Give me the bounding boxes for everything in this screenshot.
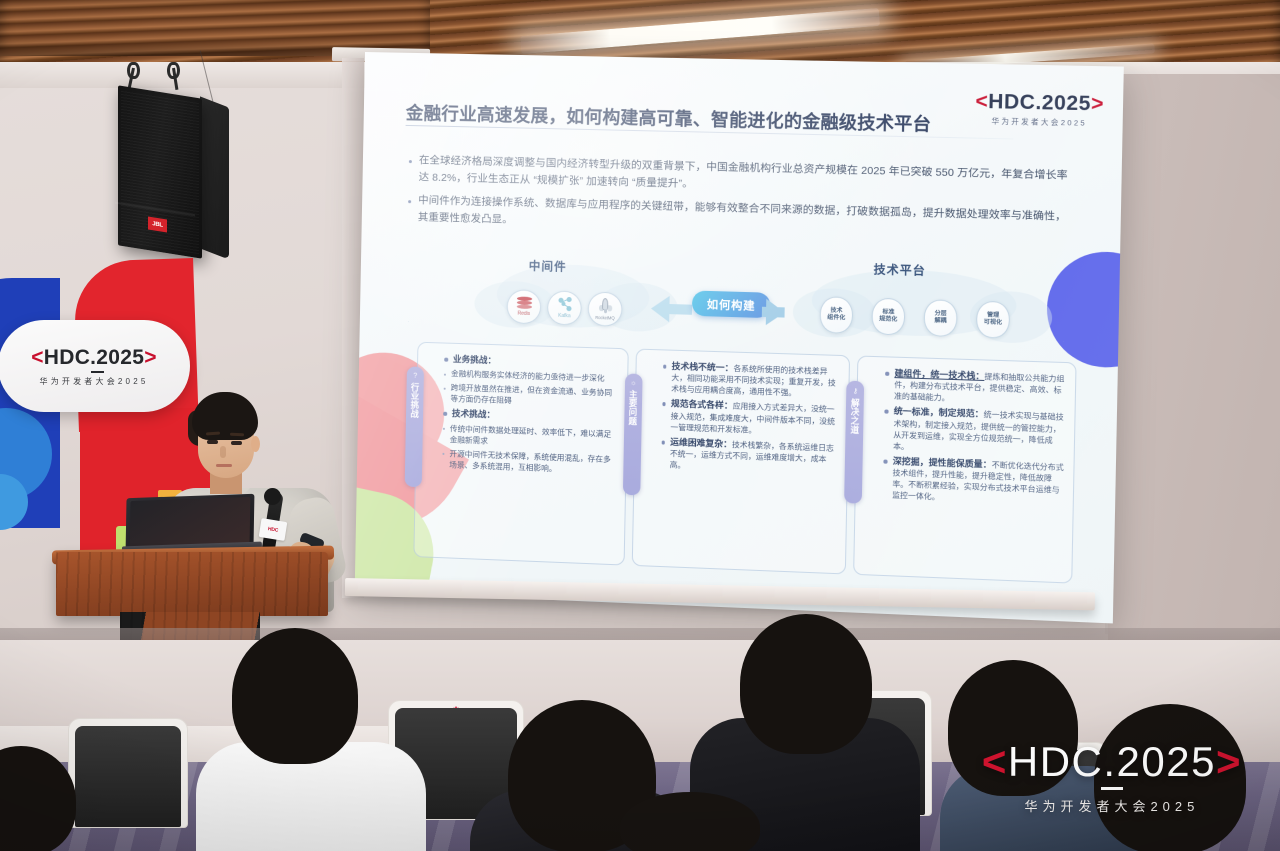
rocketmq-icon xyxy=(598,298,612,315)
presenter-ear xyxy=(251,436,260,452)
bullet-dot-icon xyxy=(443,412,447,416)
platform-capability-chip: 管理 可视化 xyxy=(976,301,1010,339)
middleware-label: 中间件 xyxy=(529,258,567,275)
platform-capability-chip: 分层 解耦 xyxy=(923,299,957,337)
panel-tag-label: 解决之道 xyxy=(849,398,860,435)
bullet-dot-icon xyxy=(408,200,411,203)
bullet-dot-icon xyxy=(443,428,445,430)
bullet-dot-icon xyxy=(444,358,448,362)
panel-item-head: 深挖掘，提性能保质量： xyxy=(893,456,992,470)
panel-item-head: 技术挑战： xyxy=(452,408,495,420)
panel-list-item: 深挖掘，提性能保质量：不断优化迭代分布式技术组件，提升性能，提升稳定性，降低故障… xyxy=(883,454,1065,507)
projection-screen: 金融行业高速发展，如何构建高可靠、智能进化的金融级技术平台 <HDC.2025>… xyxy=(355,52,1124,623)
hdc-corner-logo-main: <HDC.2025> xyxy=(982,741,1242,783)
panel-item-text: 业务挑战： xyxy=(453,353,497,367)
panel-solutions: ⚷ 解决之道 建组件，统一技术栈：提炼和抽取公共能力组件，构建分布式技术平台，提… xyxy=(853,355,1076,583)
panel-item-head: 规范各式各样： xyxy=(671,399,733,411)
audience-chair xyxy=(68,718,188,828)
speaker-front-face xyxy=(118,85,202,258)
redis-icon xyxy=(516,296,531,310)
panel-list-item: 技术栈不统一：各系统所使用的技术栈差异大，相同功能采用不同技术实现；重复开发，技… xyxy=(662,360,841,401)
panel-item-text: 技术栈不统一：各系统所使用的技术栈差异大，相同功能采用不同技术实现；重复开发，技… xyxy=(671,360,841,400)
slide-panel-group: ? 行业挑战 业务挑战： 金融机构服务实体经济的能力亟待进一步深化 跨境开放虽然… xyxy=(413,342,1076,584)
panel-list-item: 开源中间件无技术保障，系统使用混乱，存在多场景、多系统混用，互相影响。 xyxy=(442,448,617,476)
microphone-head-icon xyxy=(264,488,281,505)
platform-capability-chip: 标准 规范化 xyxy=(871,298,905,336)
bracket-left-icon: < xyxy=(31,346,44,369)
slide-hdc-logo: <HDC.2025> 华为开发者大会2025 xyxy=(975,90,1104,129)
capability-line-2: 规范化 xyxy=(879,316,897,324)
panel-item-text: 跨境开放虽然在推进，但在资金流通、业务协同等方面仍存在阻碍 xyxy=(450,382,618,410)
capability-line-2: 解耦 xyxy=(934,318,946,326)
presenter-eye-right xyxy=(231,441,242,445)
redis-label: Redis xyxy=(517,311,530,317)
kafka-label: Kafka xyxy=(558,313,571,319)
slide-hdc-logo-main: <HDC.2025> xyxy=(975,90,1104,116)
panel-list-item: 跨境开放虽然在推进，但在资金流通、业务协同等方面仍存在阻碍 xyxy=(443,382,618,410)
panel-item-text: 技术挑战： xyxy=(452,407,496,421)
panel-item-text: 统一标准，制定规范：统一技术实现与基础技术架构，制定接入规范，提供统一的管控能力… xyxy=(893,405,1066,458)
hdc-corner-logo-text: HDC.2025 xyxy=(1008,738,1216,785)
bullet-dot-icon xyxy=(885,372,889,376)
presenter-mouth xyxy=(216,464,232,467)
backdrop-sign-underscore xyxy=(91,371,104,373)
panel-tag-solutions: ⚷ 解决之道 xyxy=(844,381,864,504)
presenter-eye-left xyxy=(207,440,218,444)
presenter-hair xyxy=(192,392,258,440)
bracket-right-icon: > xyxy=(1216,738,1242,785)
bracket-left-icon: < xyxy=(982,738,1008,785)
slide-hdc-logo-text: HDC.2025 xyxy=(988,91,1091,116)
capability-line-2: 组件化 xyxy=(827,315,845,323)
panel-list-item: 统一标准，制定规范：统一技术实现与基础技术架构，制定接入规范，提供统一的管控能力… xyxy=(884,405,1066,458)
jbl-logo-badge: JBL xyxy=(148,216,167,232)
panel-tag-main-problems: ☼ 主要问题 xyxy=(623,373,643,495)
arrow-right-icon xyxy=(766,299,785,326)
bracket-right-icon: > xyxy=(144,346,157,369)
bracket-right-icon: > xyxy=(1091,93,1104,116)
panel-tag-label: 主要问题 xyxy=(627,390,638,426)
bullet-dot-icon xyxy=(663,365,667,369)
sun-icon: ☼ xyxy=(630,380,637,387)
panel-tag-label: 行业挑战 xyxy=(409,383,420,419)
bullet-dot-icon xyxy=(885,410,889,414)
bracket-left-icon: < xyxy=(975,90,988,113)
backdrop-sign-sub: 华为开发者大会2025 xyxy=(40,376,149,387)
bullet-dot-icon xyxy=(884,459,888,463)
presenter-nose xyxy=(220,446,226,458)
audience-member-head xyxy=(740,614,872,754)
panel-item-head: 建组件，统一技术栈： xyxy=(894,368,984,381)
panel-item-text: 深挖掘，提性能保质量：不断优化迭代分布式技术组件，提升性能，提升稳定性，降低故障… xyxy=(892,455,1065,508)
jbl-speaker: JBL xyxy=(110,92,240,258)
panel-main-problems: ☼ 主要问题 技术栈不统一：各系统所使用的技术栈差异大，相同功能采用不同技术实现… xyxy=(631,349,850,575)
panel-item-head: 技术栈不统一： xyxy=(672,361,734,373)
key-icon: ⚷ xyxy=(853,387,859,395)
bullet-dot-icon xyxy=(662,402,666,406)
panel-list-item: 规范各式各样：应用接入方式差异大，没统一接入规范，集成难度大，中间件版本不同，没… xyxy=(662,397,841,438)
bullet-dot-icon xyxy=(444,374,446,376)
bullet-dot-icon xyxy=(444,388,446,390)
panel-tag-industry-challenges: ? 行业挑战 xyxy=(405,366,424,487)
backdrop-sign-text: HDC.2025 xyxy=(44,346,144,369)
capability-line-2: 可视化 xyxy=(984,319,1002,327)
rocketmq-label: RocketMQ xyxy=(595,315,614,321)
panel-item-text: 运维困难复杂：技术栈繁杂，各系统运维日志不统一，运维方式不同，运维难度增大，成本… xyxy=(670,436,840,477)
panel-list-item: 运维困难复杂：技术栈繁杂，各系统运维日志不统一，运维方式不同，运维难度增大，成本… xyxy=(661,435,840,476)
hdc-corner-logo: <HDC.2025> 华为开发者大会2025 xyxy=(982,741,1242,815)
panel-item-text: 建组件，统一技术栈：提炼和抽取公共能力组件，构建分布式技术平台，提供稳定、高效、… xyxy=(894,367,1067,408)
laptop-screen xyxy=(130,497,251,548)
slide-bullet-list: 在全球经济格局深度调整与国内经济转型升级的双重背景下，中国金融机构行业总资产规模… xyxy=(408,153,1077,250)
panel-industry-challenges: ? 行业挑战 业务挑战： 金融机构服务实体经济的能力亟待进一步深化 跨境开放虽然… xyxy=(413,342,628,566)
podium xyxy=(56,552,328,616)
platform-label: 技术平台 xyxy=(873,261,925,279)
panel-item-text: 传统中间件数据处理延时、效率低下，难以满足金融新需求 xyxy=(450,423,618,451)
question-mark-icon: ? xyxy=(413,373,417,380)
panel-list-item: 建组件，统一技术栈：提炼和抽取公共能力组件，构建分布式技术平台，提供稳定、高效、… xyxy=(885,367,1067,408)
podium-wood-grain xyxy=(56,552,328,616)
conference-photo-scene: JBL 金融行业高速发展，如何构建高可靠、智能进化的金融级技术平台 <HDC.2… xyxy=(0,0,1280,851)
audience-member-head xyxy=(232,628,358,764)
kafka-icon xyxy=(557,297,573,313)
bullet-dot-icon xyxy=(661,440,665,444)
speaker-side-face xyxy=(200,96,229,259)
panel-list-item: 传统中间件数据处理延时、效率低下，难以满足金融新需求 xyxy=(443,423,618,451)
chair-backrest xyxy=(75,726,181,827)
arrow-left-icon xyxy=(651,295,670,322)
right-wall-panel xyxy=(1108,74,1280,674)
bullet-dot-icon xyxy=(442,453,444,455)
platform-capability-chip: 技术 组件化 xyxy=(819,296,853,334)
panel-item-text: 规范各式各样：应用接入方式差异大，没统一接入规范，集成难度大，中间件版本不同，没… xyxy=(670,398,840,439)
hdc-corner-logo-underscore xyxy=(1101,787,1123,790)
panel-item-text: 金融机构服务实体经济的能力亟待进一步深化 xyxy=(451,368,605,384)
panel-item-head: 统一标准，制定规范： xyxy=(894,406,984,419)
microphone-flag-label: HDC xyxy=(267,526,278,534)
hdc-corner-logo-sub: 华为开发者大会2025 xyxy=(982,796,1242,815)
how-to-build-pill: 如何构建 xyxy=(692,290,771,318)
microphone-flag-badge: HDC xyxy=(259,518,288,541)
panel-item-head: 业务挑战： xyxy=(453,354,496,365)
backdrop-sign-main: <HDC.2025> xyxy=(31,346,157,370)
panel-item-text: 开源中间件无技术保障，系统使用混乱，存在多场景、多系统混用，互相影响。 xyxy=(449,448,617,476)
panel-item-head: 运维困难复杂： xyxy=(670,437,732,449)
bullet-dot-icon xyxy=(409,160,412,163)
